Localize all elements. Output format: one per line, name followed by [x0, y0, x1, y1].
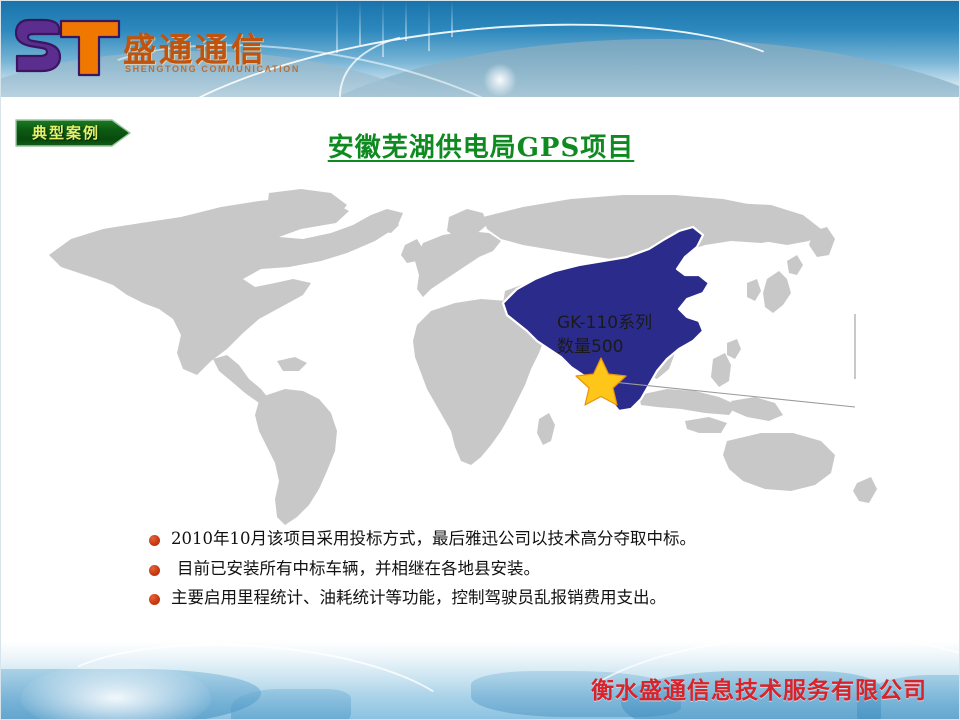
page-title: 安徽芜湖供电局GPS项目 [1, 127, 960, 164]
slide-canvas: 盛通通信 SHENGTONG COMMUNICATION 典型案例 安徽芜湖供电… [0, 0, 960, 720]
bullet-dot-icon [149, 594, 160, 605]
st-monogram-icon [15, 17, 123, 79]
map-landmasses [49, 189, 877, 525]
list-item: 目前已安装所有中标车辆，并相继在各地县安装。 [149, 559, 909, 580]
callout-line-1: GK-110系列 [557, 311, 652, 335]
logo-company-name-en: SHENGTONG COMMUNICATION [125, 64, 300, 74]
callout-line-2: 数量500 [557, 335, 652, 359]
bullet-text: 主要启用里程统计、油耗统计等功能，控制驾驶员乱报销费用支出。 [171, 588, 666, 609]
bullet-text: 目前已安装所有中标车辆，并相继在各地县安装。 [171, 559, 540, 580]
header-light-streak [382, 1, 384, 57]
list-item: 2010年10月该项目采用投标方式，最后雅迅公司以技术高分夺取中标。 [149, 529, 909, 550]
header-light-streak [336, 1, 338, 53]
list-item: 主要启用里程统计、油耗统计等功能，控制驾驶员乱报销费用支出。 [149, 588, 909, 609]
header-light-streak [428, 1, 430, 51]
page-title-text: 安徽芜湖供电局GPS项目 [328, 133, 635, 163]
world-map [31, 183, 931, 533]
bullet-text: 2010年10月该项目采用投标方式，最后雅迅公司以技术高分夺取中标。 [171, 529, 696, 550]
section-badge-label: 典型案例 [32, 122, 100, 143]
header-light-streak [451, 1, 453, 37]
callout-label: GK-110系列 数量500 [557, 311, 652, 359]
header-light-streak [359, 1, 361, 45]
section-badge: 典型案例 [14, 118, 132, 148]
footer-company-name: 衡水盛通信息技术服务有限公司 [591, 671, 927, 705]
header-lens-flare [483, 63, 517, 97]
bullet-list: 2010年10月该项目采用投标方式，最后雅迅公司以技术高分夺取中标。 目前已安装… [149, 529, 909, 618]
header-light-streak [405, 1, 407, 41]
bullet-dot-icon [149, 535, 160, 546]
company-logo: 盛通通信 SHENGTONG COMMUNICATION [15, 17, 315, 83]
bullet-dot-icon [149, 565, 160, 576]
world-map-svg [31, 183, 931, 533]
